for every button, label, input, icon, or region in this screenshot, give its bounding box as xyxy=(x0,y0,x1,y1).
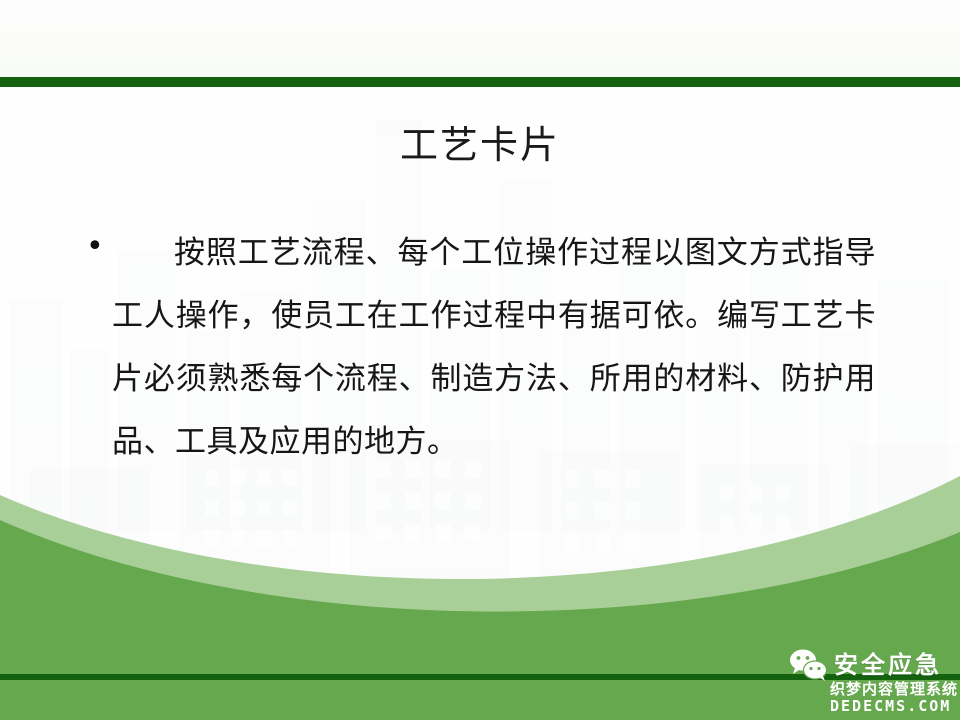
slide-body: • 按照工艺流程、每个工位操作过程以图文方式指导工人操作，使员工在工作过程中有据… xyxy=(86,222,876,474)
bullet-paragraph: 按照工艺流程、每个工位操作过程以图文方式指导工人操作，使员工在工作过程中有据可依… xyxy=(112,222,876,474)
slide-title: 工艺卡片 xyxy=(0,122,960,168)
watermark: 安全应急 织梦内容管理系统 DEDECMS.COM xyxy=(788,648,960,716)
watermark-cms-label: 织梦内容管理系统 xyxy=(830,680,958,698)
watermark-domain-label: DEDECMS.COM xyxy=(830,698,951,715)
watermark-brand-row: 安全应急 xyxy=(788,648,942,682)
presentation-slide: 工艺卡片 • 按照工艺流程、每个工位操作过程以图文方式指导工人操作，使员工在工作… xyxy=(0,0,960,720)
top-divider-rule xyxy=(0,77,960,87)
top-band xyxy=(0,0,960,77)
bullet-list-item: • 按照工艺流程、每个工位操作过程以图文方式指导工人操作，使员工在工作过程中有据… xyxy=(86,222,876,474)
bullet-glyph: • xyxy=(86,222,112,272)
watermark-brand-label: 安全应急 xyxy=(834,651,942,679)
wechat-icon xyxy=(788,648,830,682)
